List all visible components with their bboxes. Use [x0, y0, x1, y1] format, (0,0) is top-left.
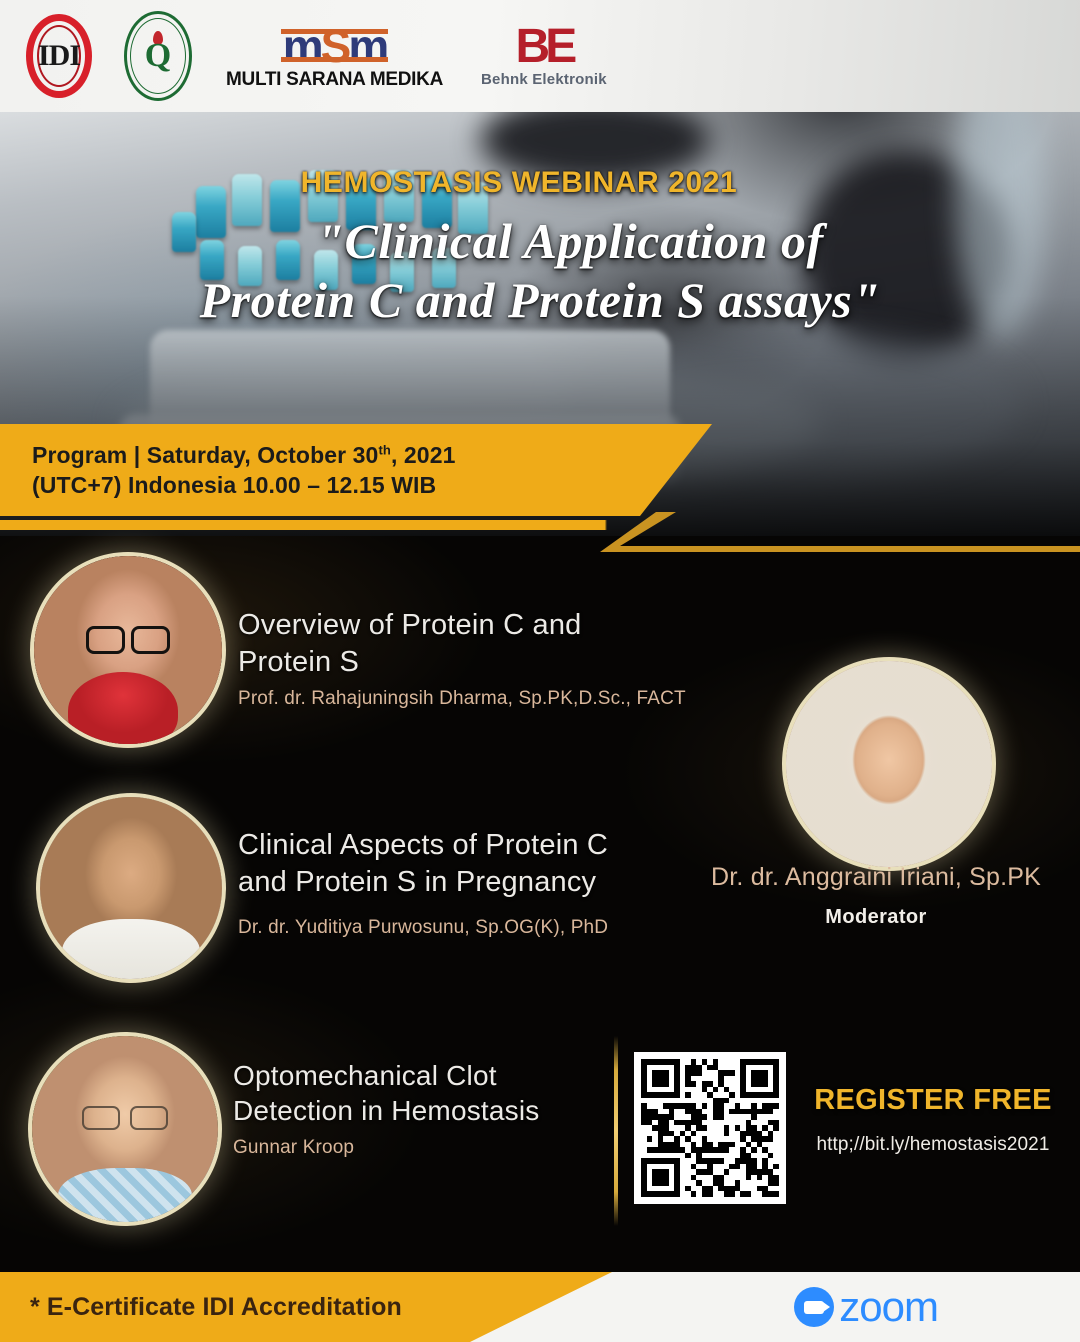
behnk-elektronik-logo: BE Behnk Elektronik — [481, 25, 607, 86]
idi-monogram: IDI — [18, 12, 100, 100]
gold-vertical-divider — [614, 1036, 618, 1226]
msm-s: S — [321, 20, 349, 72]
topic-1-speaker: Prof. dr. Rahajuningsih Dharma, Sp.PK,D.… — [238, 687, 798, 712]
idi-logo: IDI — [18, 12, 100, 100]
topic-1-title: Overview of Protein C and Protein S — [238, 607, 798, 680]
topic-3-title: Optomechanical Clot Detection in Hemosta… — [233, 1058, 633, 1129]
hijab-overlay — [786, 661, 992, 867]
red-scarf — [68, 672, 178, 744]
topic-2-speaker: Dr. dr. Yuditiya Purwosunu, Sp.OG(K), Ph… — [238, 916, 688, 941]
topic-3-title-line1: Optomechanical Clot — [233, 1060, 497, 1091]
register-title: REGISTER FREE — [790, 1086, 1076, 1115]
program-date-suffix: , 2021 — [391, 442, 456, 468]
topic-2-title-line1: Clinical Aspects of Protein C — [238, 829, 608, 861]
video-camera-icon — [794, 1287, 834, 1327]
msm-m2: m — [348, 20, 386, 72]
glasses-icon — [82, 1106, 168, 1126]
topic-3-speaker: Gunnar Kroop — [233, 1136, 633, 1161]
be-caption: Behnk Elektronik — [481, 72, 607, 87]
webinar-poster: HEMOSTASIS WEBINAR 2021 "Clinical Applic… — [0, 0, 1080, 1342]
lab-coat — [62, 919, 200, 979]
qr-code[interactable] — [634, 1052, 786, 1204]
msm-monogram: mSm — [279, 23, 391, 69]
msm-m1: m — [283, 20, 321, 72]
qr-code-matrix — [641, 1059, 779, 1197]
topic-2-title-line2: and Protein S in Pregnancy — [238, 866, 596, 898]
title-line-2: Protein C and Protein S assays" — [0, 271, 1080, 330]
register-url[interactable]: http;//bit.ly/hemostasis2021 — [790, 1135, 1076, 1154]
msm-logo: mSm MULTI SARANA MEDIKA — [226, 23, 443, 89]
page-title: "Clinical Application of Protein C and P… — [0, 212, 1080, 330]
avatar-speaker-3 — [32, 1036, 218, 1222]
plaid-shirt — [58, 1168, 192, 1222]
topic-3-title-line2: Detection in Hemostasis — [233, 1095, 540, 1126]
register-block: REGISTER FREE http;//bit.ly/hemostasis20… — [790, 1086, 1076, 1154]
certificate-note: * E-Certificate IDI Accreditation — [30, 1272, 402, 1342]
topic-2: Clinical Aspects of Protein C and Protei… — [238, 827, 688, 941]
hero-title-block: HEMOSTASIS WEBINAR 2021 "Clinical Applic… — [0, 168, 1080, 330]
topic-2-title: Clinical Aspects of Protein C and Protei… — [238, 827, 688, 900]
program-date-line: Program | Saturday, October 30th, 2021 — [32, 440, 712, 470]
program-date-prefix: Program | Saturday, October 30 — [32, 442, 378, 468]
avatar-moderator — [786, 661, 992, 867]
title-line-1: "Clinical Application of — [60, 212, 1080, 271]
zoom-logo: zoom — [794, 1272, 938, 1342]
pds-patklin-logo: Q — [118, 11, 198, 101]
program-time-line: (UTC+7) Indonesia 10.00 – 12.15 WIB — [32, 470, 712, 500]
moderator-role: Moderator — [676, 905, 1076, 929]
zoom-wordmark: zoom — [839, 1286, 938, 1328]
pds-monogram: Q — [118, 11, 198, 101]
topic-1: Overview of Protein C and Protein S Prof… — [238, 607, 798, 712]
moderator-block: Dr. dr. Anggraini Iriani, Sp.PK Moderato… — [676, 862, 1076, 929]
webinar-kicker: HEMOSTASIS WEBINAR 2021 — [0, 168, 1038, 198]
glasses-icon — [86, 626, 170, 648]
topic-3: Optomechanical Clot Detection in Hemosta… — [233, 1058, 633, 1160]
topic-1-title-line2: Protein S — [238, 646, 359, 678]
avatar-speaker-1 — [34, 556, 222, 744]
moderator-name: Dr. dr. Anggraini Iriani, Sp.PK — [676, 862, 1076, 892]
msm-caption: MULTI SARANA MEDIKA — [226, 70, 443, 89]
program-date-ordinal: th — [378, 442, 390, 457]
topic-1-title-line1: Overview of Protein C and — [238, 609, 581, 641]
footer-bar: * E-Certificate IDI Accreditation zoom — [0, 1272, 1080, 1342]
avatar-speaker-2 — [40, 797, 222, 979]
be-monogram: BE — [481, 25, 607, 68]
logo-bar: IDI Q mSm MULTI SARANA MEDIKA BE Behnk E… — [0, 0, 1080, 112]
program-banner: Program | Saturday, October 30th, 2021 (… — [0, 424, 712, 516]
